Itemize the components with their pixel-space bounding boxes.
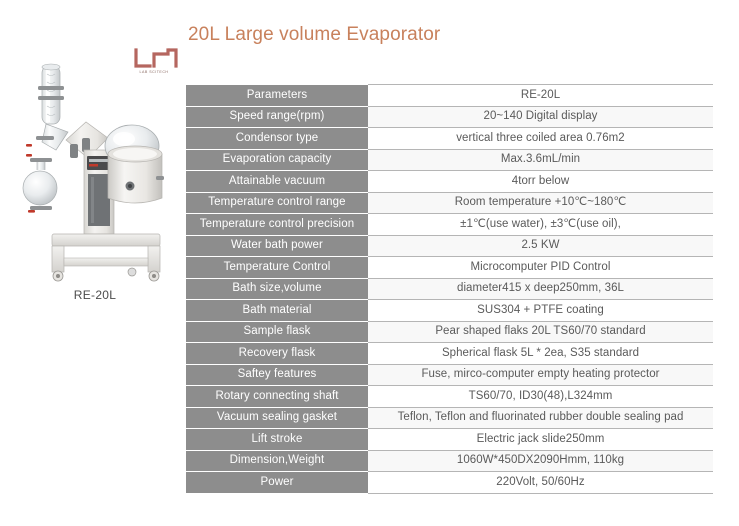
table-row: Rotary connecting shaftTS60/70, ID30(48)…	[186, 386, 713, 408]
spec-label-cell: Dimension,Weight	[186, 450, 368, 472]
spec-value-cell: 1060W*450DX2090Hmm, 110kg	[368, 450, 713, 472]
spec-label-cell: Condensor type	[186, 128, 368, 150]
spec-value-cell: 4torr below	[368, 171, 713, 193]
spec-label-cell: Temperature Control	[186, 257, 368, 279]
spec-label-cell: Bath material	[186, 300, 368, 322]
spec-label-cell: Temperature control precision	[186, 214, 368, 236]
table-row: Water bath power2.5 KW	[186, 235, 713, 257]
page-title: 20L Large volume Evaporator	[188, 24, 440, 46]
spec-label-cell: Sample flask	[186, 321, 368, 343]
table-row: Vacuum sealing gasketTeflon, Teflon and …	[186, 407, 713, 429]
spec-label-cell: Saftey features	[186, 364, 368, 386]
spec-label-cell: Temperature control range	[186, 192, 368, 214]
table-row: Lift strokeElectric jack slide250mm	[186, 429, 713, 451]
table-row: Sample flaskPear shaped flaks 20L TS60/7…	[186, 321, 713, 343]
product-caption: RE-20L	[12, 288, 178, 302]
table-row: Temperature ControlMicrocomputer PID Con…	[186, 257, 713, 279]
spec-value-cell: Electric jack slide250mm	[368, 429, 713, 451]
spec-value-cell: 2.5 KW	[368, 235, 713, 257]
spec-value-cell: diameter415 x deep250mm, 36L	[368, 278, 713, 300]
spec-sheet-page: 20L Large volume Evaporator LAB SCITECH	[0, 0, 739, 526]
table-row: ParametersRE-20L	[186, 85, 713, 107]
table-row: Condensor typevertical three coiled area…	[186, 128, 713, 150]
spec-label-cell: Recovery flask	[186, 343, 368, 365]
product-photo	[12, 58, 178, 286]
spec-label-cell: Rotary connecting shaft	[186, 386, 368, 408]
spec-value-cell: Fuse, mirco-computer empty heating prote…	[368, 364, 713, 386]
table-row: Bath materialSUS304 + PTFE coating	[186, 300, 713, 322]
table-row: Attainable vacuum4torr below	[186, 171, 713, 193]
spec-label-cell: Power	[186, 472, 368, 494]
spec-label-cell: Lift stroke	[186, 429, 368, 451]
spec-value-cell: Room temperature +10℃~180℃	[368, 192, 713, 214]
spec-value-cell: Pear shaped flaks 20L TS60/70 standard	[368, 321, 713, 343]
specification-table: ParametersRE-20LSpeed range(rpm)20~140 D…	[186, 84, 713, 494]
spec-value-cell: ±1℃(use water), ±3℃(use oil),	[368, 214, 713, 236]
table-row: Temperature control precision±1℃(use wat…	[186, 214, 713, 236]
spec-label-cell: Speed range(rpm)	[186, 106, 368, 128]
table-row: Power220Volt, 50/60Hz	[186, 472, 713, 494]
spec-value-cell: vertical three coiled area 0.76m2	[368, 128, 713, 150]
table-row: Dimension,Weight1060W*450DX2090Hmm, 110k…	[186, 450, 713, 472]
table-row: Bath size,volumediameter415 x deep250mm,…	[186, 278, 713, 300]
spec-value-cell: Spherical flask 5L * 2ea, S35 standard	[368, 343, 713, 365]
spec-label-cell: Evaporation capacity	[186, 149, 368, 171]
spec-value-cell: Microcomputer PID Control	[368, 257, 713, 279]
table-row: Recovery flaskSpherical flask 5L * 2ea, …	[186, 343, 713, 365]
spec-label-cell: Attainable vacuum	[186, 171, 368, 193]
table-row: Speed range(rpm)20~140 Digital display	[186, 106, 713, 128]
table-row: Temperature control rangeRoom temperatur…	[186, 192, 713, 214]
spec-value-cell: 220Volt, 50/60Hz	[368, 472, 713, 494]
table-row: Saftey featuresFuse, mirco-computer empt…	[186, 364, 713, 386]
spec-value-cell: Teflon, Teflon and fluorinated rubber do…	[368, 407, 713, 429]
spec-label-cell: Vacuum sealing gasket	[186, 407, 368, 429]
spec-value-cell: RE-20L	[368, 85, 713, 107]
table-row: Evaporation capacityMax.3.6mL/min	[186, 149, 713, 171]
spec-value-cell: TS60/70, ID30(48),L324mm	[368, 386, 713, 408]
spec-value-cell: 20~140 Digital display	[368, 106, 713, 128]
spec-label-cell: Bath size,volume	[186, 278, 368, 300]
spec-value-cell: SUS304 + PTFE coating	[368, 300, 713, 322]
spec-label-cell: Water bath power	[186, 235, 368, 257]
spec-label-cell: Parameters	[186, 85, 368, 107]
spec-value-cell: Max.3.6mL/min	[368, 149, 713, 171]
